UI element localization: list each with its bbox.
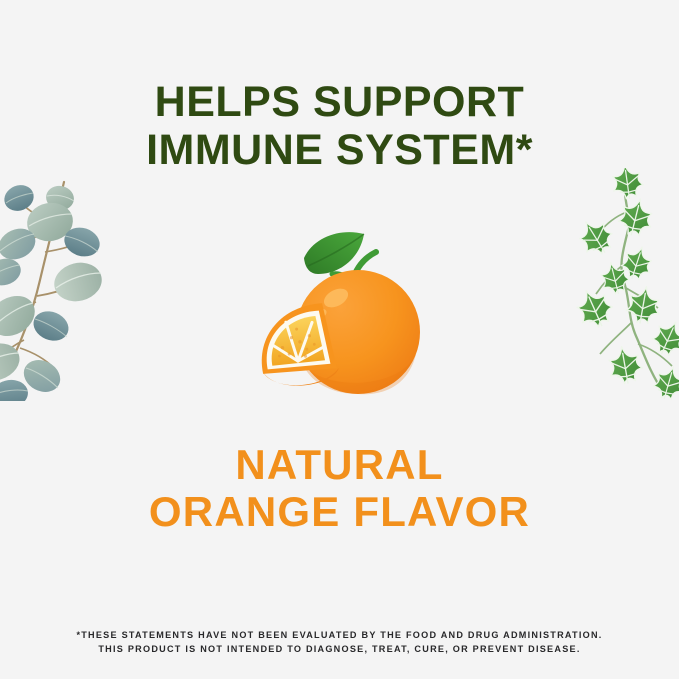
- flavor-line-2: ORANGE FLAVOR: [0, 488, 679, 535]
- flavor-callout: NATURAL ORANGE FLAVOR: [0, 441, 679, 535]
- infographic-canvas: HELPS SUPPORT IMMUNE SYSTEM* NATURAL ORA…: [0, 0, 679, 679]
- flavor-line-1: NATURAL: [0, 441, 679, 488]
- ivy-vine-illustration: [566, 168, 679, 408]
- orange-fruit-illustration: [248, 222, 443, 404]
- fda-disclaimer: *THESE STATEMENTS HAVE NOT BEEN EVALUATE…: [0, 628, 679, 656]
- headline: HELPS SUPPORT IMMUNE SYSTEM*: [0, 78, 679, 174]
- disclaimer-line-2: THIS PRODUCT IS NOT INTENDED TO DIAGNOSE…: [0, 642, 679, 656]
- headline-line-2: IMMUNE SYSTEM*: [0, 126, 679, 174]
- eucalyptus-branch-illustration: [0, 176, 110, 401]
- headline-line-1: HELPS SUPPORT: [0, 78, 679, 126]
- disclaimer-line-1: *THESE STATEMENTS HAVE NOT BEEN EVALUATE…: [0, 628, 679, 642]
